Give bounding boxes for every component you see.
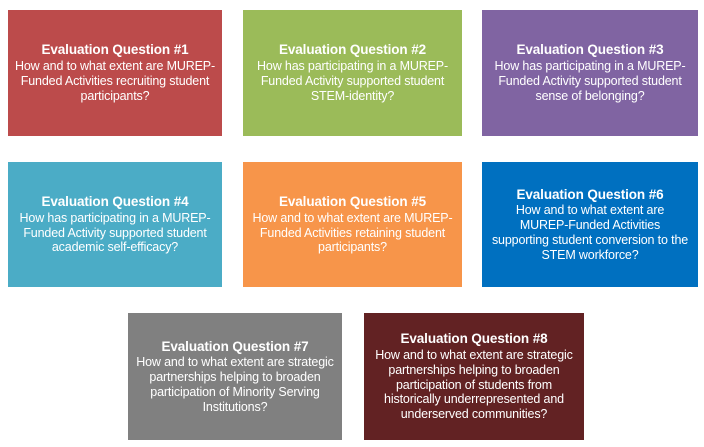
question-card-8-body: How and to what extent are strategic par… [370,348,578,422]
evaluation-questions-board: Evaluation Question #1 How and to what e… [0,0,704,447]
question-card-2-body: How has participating in a MUREP-Funded … [250,59,456,103]
question-card-1-title: Evaluation Question #1 [41,42,188,58]
question-card-7-title: Evaluation Question #7 [161,339,308,355]
question-card-4-title: Evaluation Question #4 [41,194,188,210]
question-card-7-body: How and to what extent are strategic par… [135,355,335,414]
question-card-4: Evaluation Question #4 How has participa… [8,162,222,287]
question-card-3: Evaluation Question #3 How has participa… [482,10,698,136]
question-card-2-title: Evaluation Question #2 [279,42,426,58]
question-card-5-body: How and to what extent are MUREP-Funded … [251,211,455,255]
question-card-6-body: How and to what extent are MUREP-Funded … [491,203,689,262]
question-card-1: Evaluation Question #1 How and to what e… [8,10,222,136]
question-card-5-title: Evaluation Question #5 [279,194,426,210]
question-card-8-title: Evaluation Question #8 [400,331,547,347]
question-card-3-title: Evaluation Question #3 [516,42,663,58]
question-card-5: Evaluation Question #5 How and to what e… [243,162,462,287]
question-card-4-body: How has participating in a MUREP-Funded … [14,211,216,255]
question-card-7: Evaluation Question #7 How and to what e… [128,313,342,440]
question-card-1-body: How and to what extent are MUREP-Funded … [14,59,216,103]
question-card-6-title: Evaluation Question #6 [516,187,663,203]
question-card-8: Evaluation Question #8 How and to what e… [364,313,584,440]
question-card-6: Evaluation Question #6 How and to what e… [482,162,698,287]
question-card-3-body: How has participating in a MUREP-Funded … [488,59,692,103]
question-card-2: Evaluation Question #2 How has participa… [243,10,462,136]
